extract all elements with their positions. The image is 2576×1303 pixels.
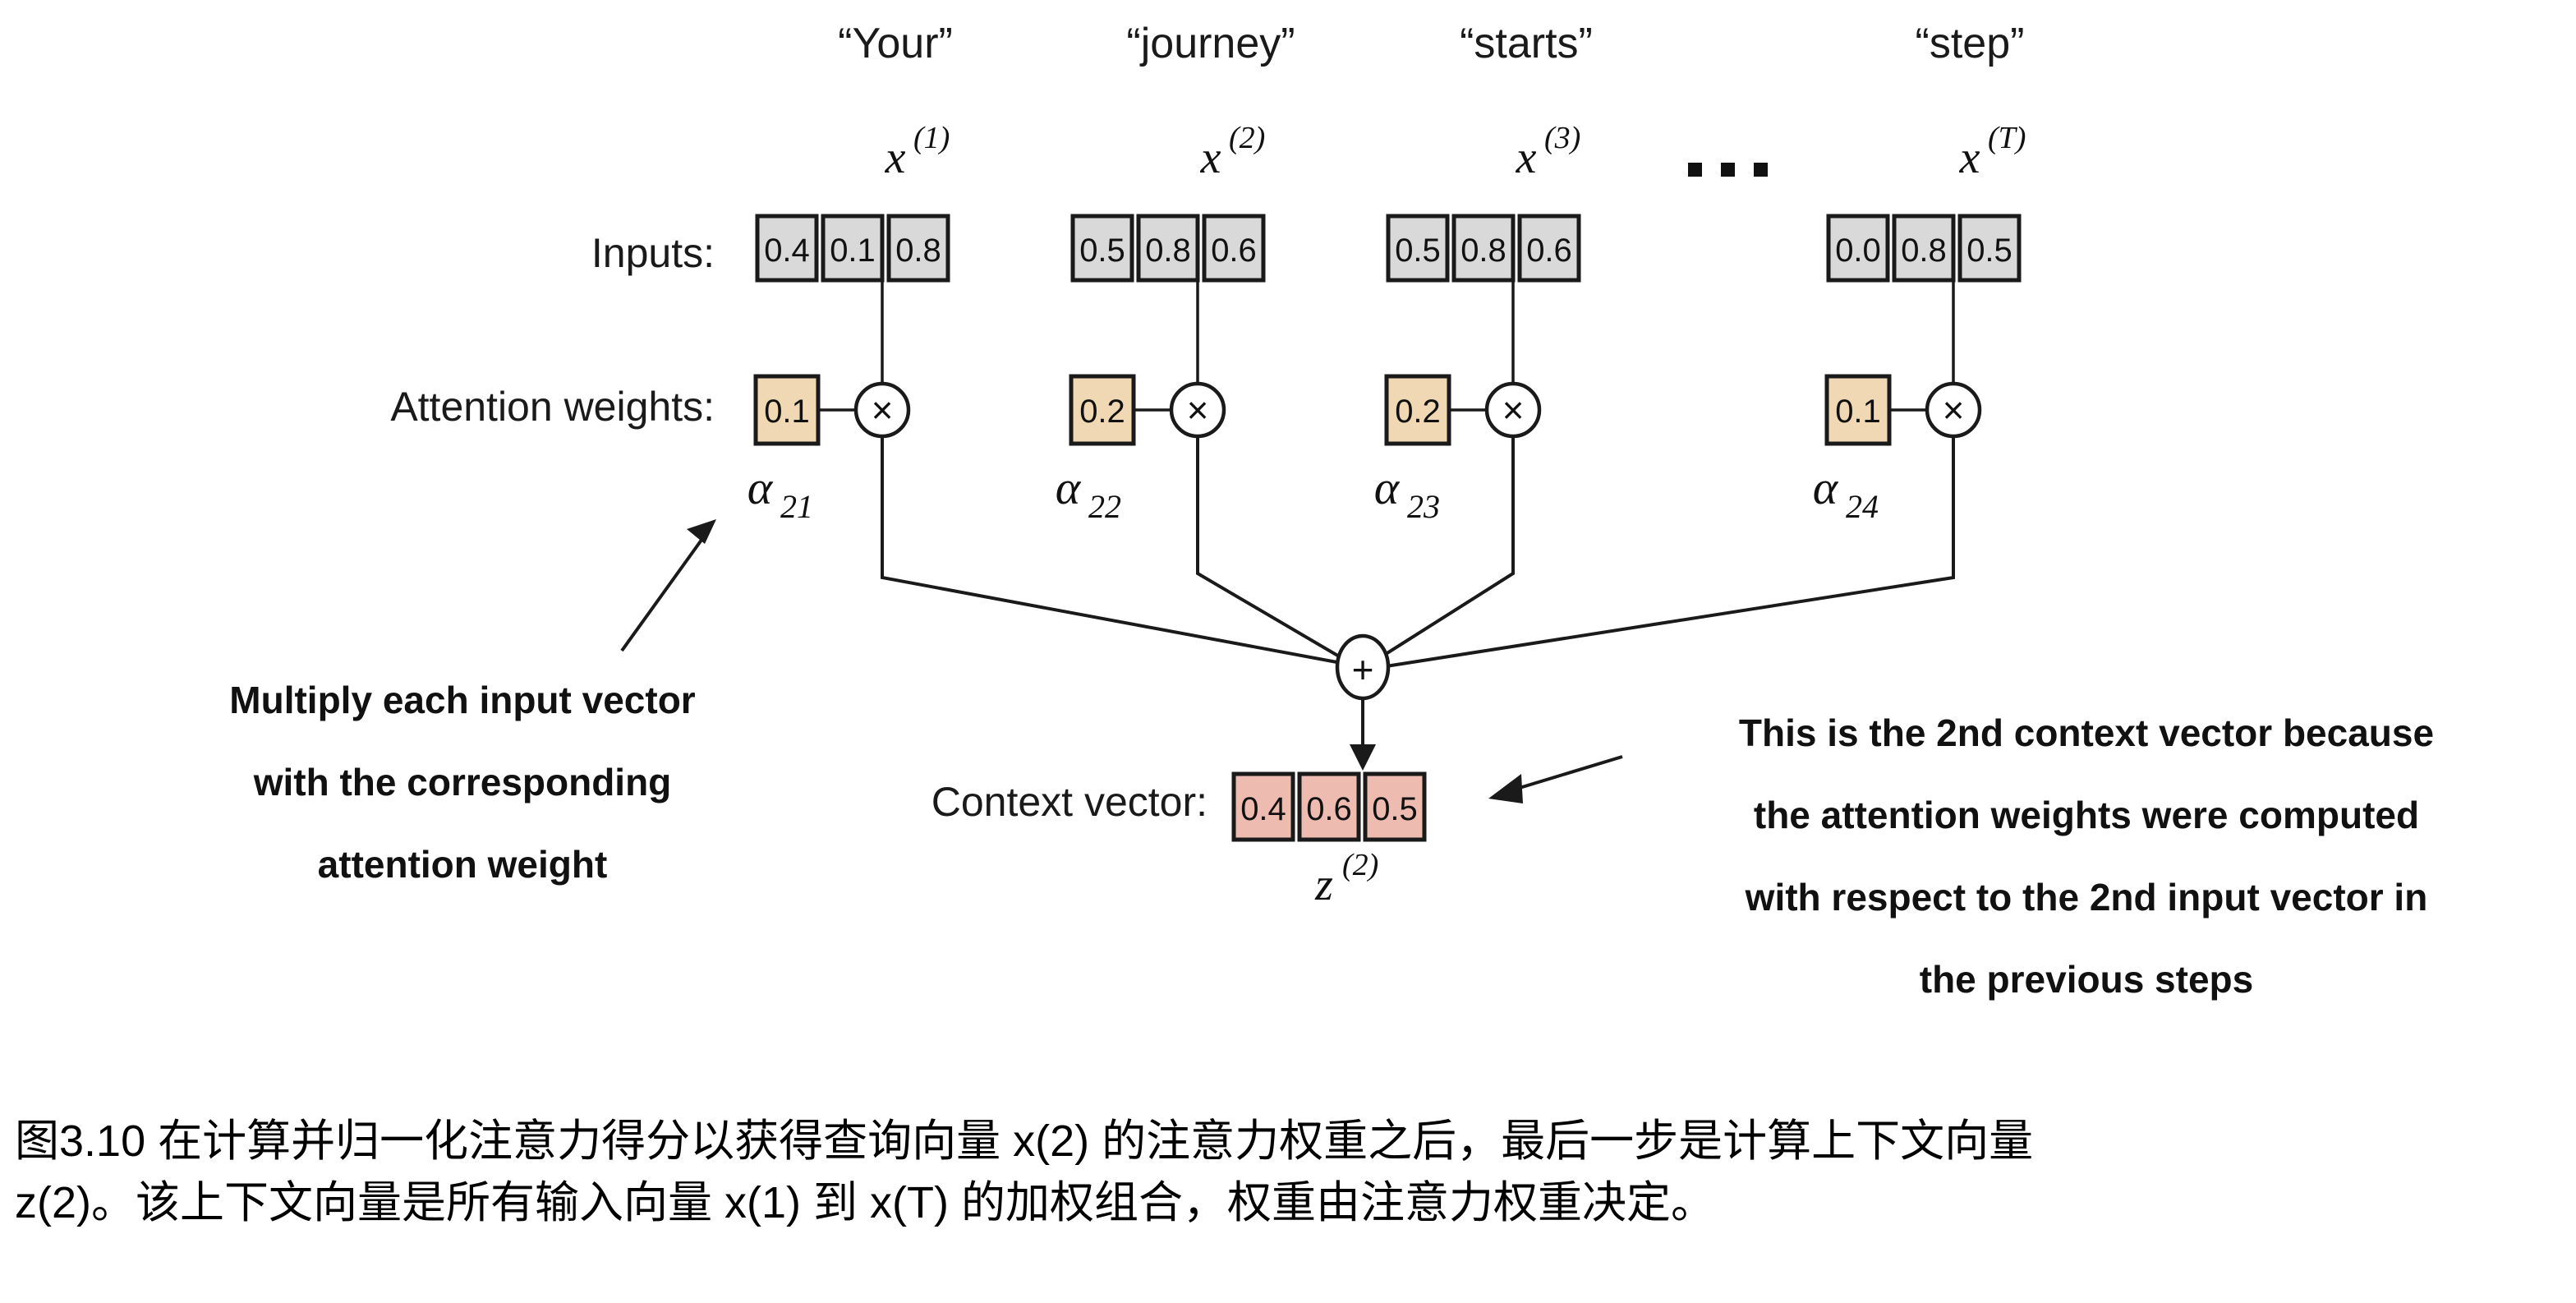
context-vector-var-label: z (2) [1314,848,1378,910]
attention-weight-value: 0.1 [1835,394,1881,430]
annotation-right-line-1: the attention weights were computed [1754,794,2419,836]
alpha-sub-3: 24 [1846,488,1879,525]
var-label-2: x (3) [1516,121,1581,183]
context-vector-row-label: Context vector: [931,779,1207,825]
input-cell-value: 0.1 [830,233,876,269]
attention-weight-value: 0.1 [764,394,810,430]
context-vector-boxes: 0.4 0.6 0.5 [1234,774,1424,840]
var-base-0: x [885,132,906,183]
alpha-base-2: α [1374,461,1401,514]
annotation-left-line-2: attention weight [318,843,608,886]
attention-weight-value: 0.2 [1079,394,1125,430]
annotation-right-arrow-line [1511,757,1622,790]
multiply-icon-3: × [1943,389,1965,431]
alpha-base-1: α [1056,461,1082,514]
var-sup-1: (2) [1229,121,1265,155]
word-label-1: “journey” [1126,20,1295,67]
input-cell-value: 0.8 [1901,233,1947,269]
arrowhead-down-icon [1350,744,1376,771]
annotation-right-line-0: This is the 2nd context vector because [1739,711,2434,754]
var-sup-3: (T) [1988,121,2026,155]
var-label-3: x (T) [1959,121,2026,183]
alpha-base-3: α [1813,461,1839,514]
input-vector-2: 0.5 0.8 0.6 [1388,216,1579,280]
attention-weights-row-label: Attention weights: [390,384,715,430]
var-sup-2: (3) [1544,121,1580,155]
input-cell-value: 0.8 [1145,233,1191,269]
context-var-base: z [1314,859,1333,910]
context-cell-value: 0.4 [1240,791,1286,827]
word-label-3: “step” [1916,20,2025,67]
connector-multiply-to-sum-1 [1198,436,1355,665]
input-cell-value: 0.6 [1211,233,1257,269]
connector-multiply-to-sum-3 [1381,436,1953,667]
alpha-label-3: α 24 [1813,461,1879,525]
word-label-0: “Your” [838,20,953,67]
context-cell-value: 0.5 [1372,791,1418,827]
attention-weight-group-0: 0.1 × [756,376,908,444]
alpha-sub-1: 22 [1088,488,1121,525]
attention-weight-value: 0.2 [1395,394,1441,430]
alpha-label-1: α 22 [1056,461,1121,525]
input-cell-value: 0.4 [764,233,810,269]
figure-page: “Your” “journey” “starts” “step” x (1) x… [0,0,2576,1303]
input-cell-value: 0.5 [1966,233,2012,269]
multiply-icon-1: × [1187,389,1209,431]
caption-line-1: 图3.10 在计算并归一化注意力得分以获得查询向量 x(2) 的注意力权重之后，… [15,1111,2569,1172]
annotation-right-line-3: the previous steps [1920,958,2253,1001]
alpha-sub-0: 21 [780,488,813,525]
input-cell-value: 0.8 [895,233,941,269]
alpha-sub-2: 23 [1407,488,1440,525]
attention-context-vector-diagram: “Your” “journey” “starts” “step” x (1) x… [0,0,2576,1303]
var-label-1: x (2) [1200,121,1266,183]
arrowhead-left-icon [1488,774,1523,803]
var-base-1: x [1200,132,1221,183]
multiply-icon-0: × [872,389,894,431]
inputs-row-label: Inputs: [591,230,715,276]
input-cell-value: 0.5 [1395,233,1441,269]
input-cell-value: 0.6 [1526,233,1572,269]
word-label-2: “starts” [1460,20,1593,67]
multiply-icon-2: × [1502,389,1525,431]
attention-weight-group-1: 0.2 × [1071,376,1224,444]
input-cell-value: 0.0 [1835,233,1881,269]
input-vector-3: 0.0 0.8 0.5 [1828,216,2019,280]
annotation-right-line-2: with respect to the 2nd input vector in [1745,876,2428,919]
alpha-label-0: α 21 [747,461,813,525]
annotation-left-arrow-line [622,536,704,651]
input-vector-0: 0.4 0.1 0.8 [757,216,948,280]
input-vector-1: 0.5 0.8 0.6 [1073,216,1263,280]
context-var-sup: (2) [1342,848,1378,882]
alpha-label-2: α 23 [1374,461,1440,525]
input-cell-value: 0.8 [1460,233,1506,269]
context-cell-value: 0.6 [1306,791,1352,827]
arrowhead-up-right-icon [687,519,716,544]
var-base-3: x [1959,132,1980,183]
var-sup-0: (1) [913,121,950,155]
annotation-left-line-1: with the corresponding [253,761,672,803]
input-cell-value: 0.5 [1079,233,1125,269]
ellipsis-icon [1688,163,1768,177]
plus-icon: + [1352,648,1374,691]
connector-multiply-to-sum-0 [882,436,1355,665]
var-base-2: x [1516,132,1537,183]
caption-line-2: z(2)。该上下文向量是所有输入向量 x(1) 到 x(T) 的加权组合，权重由… [15,1172,2569,1234]
annotation-left-line-0: Multiply each input vector [229,679,696,721]
attention-weight-group-2: 0.2 × [1387,376,1539,444]
var-label-0: x (1) [885,121,950,183]
alpha-base-0: α [747,461,774,514]
attention-weight-group-3: 0.1 × [1827,376,1980,444]
figure-caption: 图3.10 在计算并归一化注意力得分以获得查询向量 x(2) 的注意力权重之后，… [15,1111,2569,1233]
